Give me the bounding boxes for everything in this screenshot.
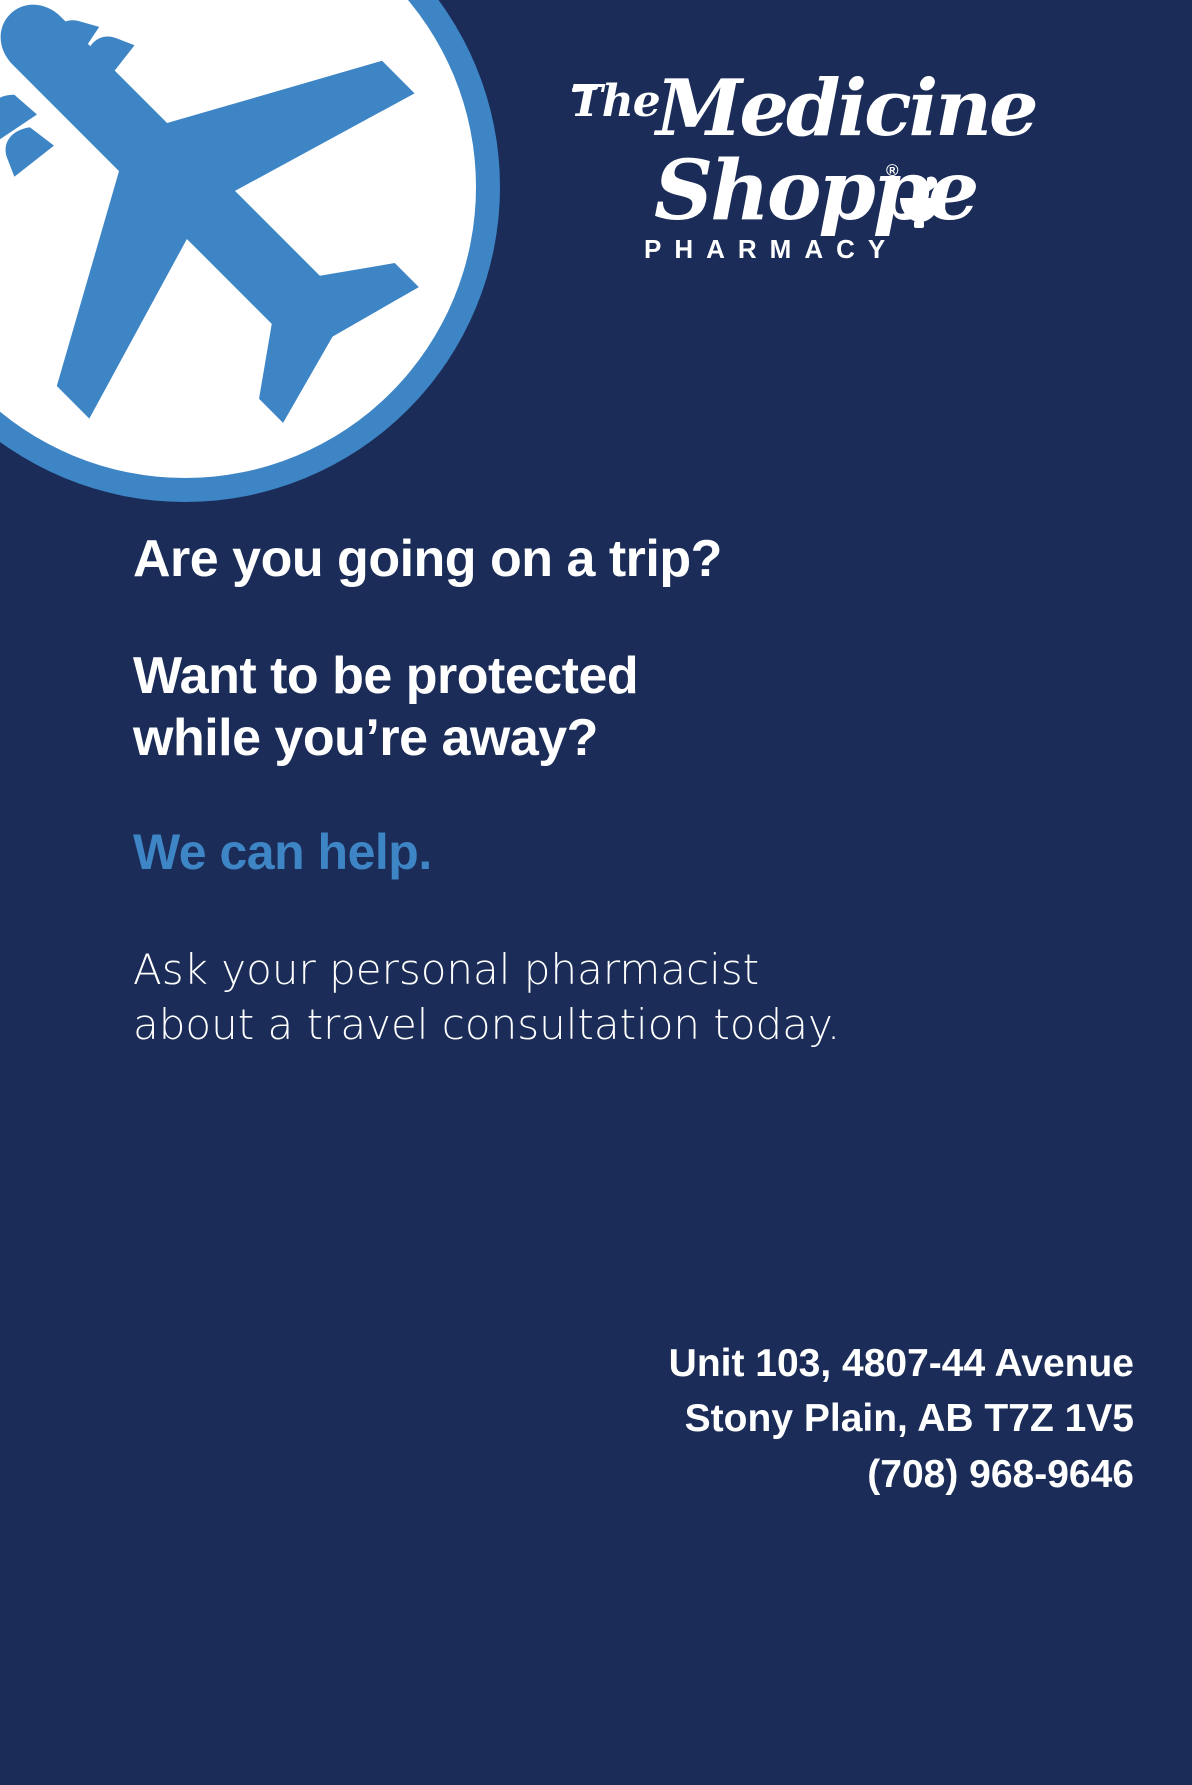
brand-word-medicine: Medicine (656, 70, 1036, 148)
brand-the-text: The (570, 76, 660, 127)
brand-word-the: The (570, 80, 660, 124)
mortar-pestle-icon (898, 176, 948, 228)
airplane-badge (0, 0, 500, 502)
headline-secondary-line-2: while you’re away? (133, 708, 833, 769)
headline-secondary-line-1: Want to be protected (133, 646, 833, 707)
airplane-badge-inner (0, 0, 476, 478)
headline-secondary: Want to be protected while you’re away? (133, 646, 833, 769)
poster-canvas: The Medicine Shoppe ® PHARMACY Are you g… (0, 0, 1192, 1785)
copy-block: Are you going on a trip? Want to be prot… (133, 530, 1033, 1053)
body-copy-line-1: Ask your personal pharmacist (133, 942, 1033, 997)
headline-primary: Are you going on a trip? (133, 530, 1033, 588)
address-line-phone[interactable]: (708) 968-9646 (669, 1447, 1134, 1502)
address-line-street: Unit 103, 4807-44 Avenue (669, 1336, 1134, 1391)
address-line-city: Stony Plain, AB T7Z 1V5 (669, 1391, 1134, 1446)
airplane-icon (0, 0, 457, 461)
brand-logo: The Medicine Shoppe ® PHARMACY (560, 76, 960, 266)
registered-trademark-icon: ® (886, 162, 899, 179)
brand-word-pharmacy: PHARMACY (644, 236, 898, 262)
body-copy: Ask your personal pharmacist about a tra… (133, 942, 1033, 1053)
address-block: Unit 103, 4807-44 Avenue Stony Plain, AB… (669, 1336, 1134, 1502)
headline-accent: We can help. (133, 825, 1033, 880)
brand-logo-row-2: Shoppe ® (560, 150, 960, 246)
body-copy-line-2: about a travel consultation today. (133, 997, 1033, 1052)
